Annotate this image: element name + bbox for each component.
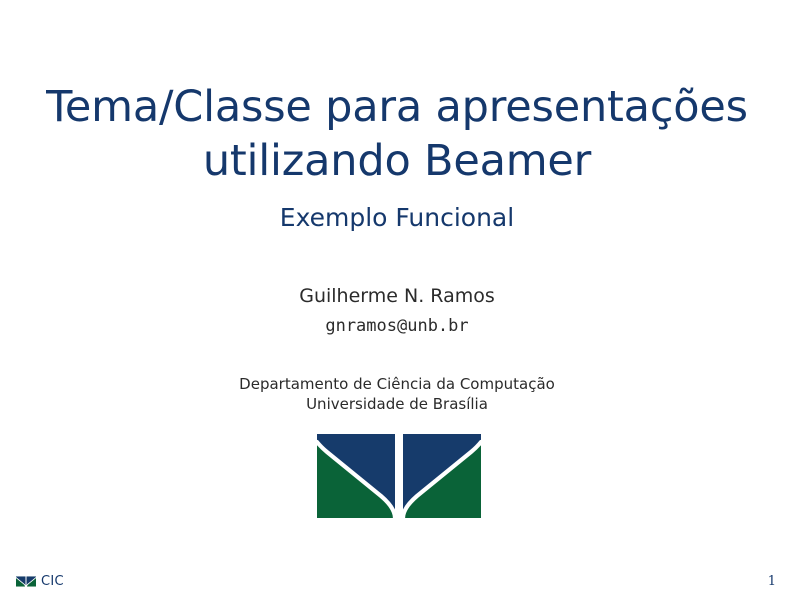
author-email: gnramos@unb.br [0,315,794,337]
institute-line-2: Universidade de Brasília [0,394,794,414]
page-number: 1 [768,575,776,588]
footer-institution-label: CIC [41,575,64,588]
title-block: Tema/Classe para apresentações utilizand… [0,80,794,233]
title-line-2: utilizando Beamer [0,134,794,188]
author-block: Guilherme N. Ramos gnramos@unb.br [0,283,794,337]
institute-line-1: Departamento de Ciência da Computação [0,374,794,394]
title-line-1: Tema/Classe para apresentações [0,80,794,134]
footer-institution: CIC [16,575,64,588]
beamer-title-slide: Tema/Classe para apresentações utilizand… [0,0,794,596]
page-title: Tema/Classe para apresentações utilizand… [0,80,794,188]
page-subtitle: Exemplo Funcional [0,203,794,233]
unb-logo [317,434,481,518]
unb-mini-logo-icon [16,575,36,588]
author-name: Guilherme N. Ramos [0,283,794,309]
institute-block: Departamento de Ciência da Computação Un… [0,374,794,414]
